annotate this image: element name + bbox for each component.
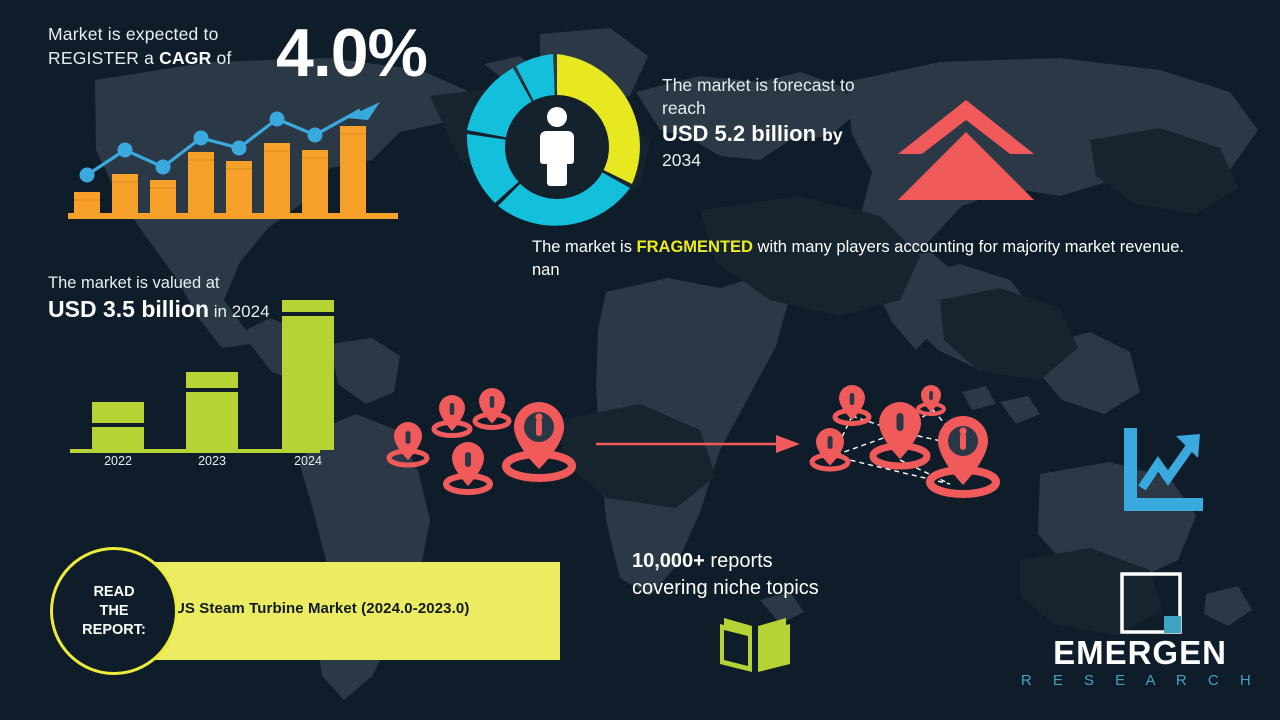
- cagr-lead-text: Market is expected to REGISTER a CAGR of: [48, 22, 263, 70]
- upward-chevrons-icon: [896, 96, 1036, 204]
- open-book-icon: [718, 612, 794, 674]
- location-pin: [812, 428, 848, 469]
- valued-lead-text: The market is valued at: [48, 272, 348, 294]
- cagr-lead-line2-post: of: [211, 48, 231, 68]
- forecast-value-suffix: by: [822, 125, 842, 145]
- read-report-button[interactable]: READ THE REPORT:: [50, 547, 178, 675]
- growth-trend-bar-chart: [68, 88, 408, 223]
- reports-count: 10,000+: [632, 550, 705, 572]
- location-pin: [446, 442, 490, 492]
- read-report-line1: READ: [93, 584, 134, 600]
- forecast-value-row: USD 5.2 billion by: [662, 120, 902, 149]
- green-bars-svg: [70, 292, 340, 472]
- read-report-line2: THE: [100, 603, 129, 619]
- location-pin: [389, 422, 427, 465]
- forecast-line1: The market is forecast to: [662, 74, 902, 97]
- growth-bars: [74, 126, 366, 213]
- market-value-bar-chart: 2022 2023 2024: [70, 292, 340, 472]
- reports-line1: 10,000+ reports: [632, 548, 912, 575]
- market-fragmentation-text: The market is FRAGMENTED with many playe…: [532, 236, 1212, 282]
- flow-arrow-icon: [594, 428, 804, 460]
- reports-line2: covering niche topics: [632, 575, 912, 602]
- read-report-line3: REPORT:: [82, 622, 146, 638]
- green-chart-baseline: [70, 449, 320, 453]
- location-pin: [434, 395, 470, 436]
- connected-location-pins-network: [800, 384, 1015, 502]
- green-bar-label-2024: 2024: [273, 454, 343, 468]
- cagr-lead-line2-pre: REGISTER a: [48, 48, 159, 68]
- forecast-line2: reach: [662, 97, 902, 120]
- logo-square-icon: [1120, 572, 1182, 634]
- forecast-block: The market is forecast to reach USD 5.2 …: [662, 74, 902, 172]
- fragmented-pre: The market is: [532, 238, 637, 256]
- line-chart-icon: [1120, 426, 1206, 512]
- reports-line1-rest: reports: [705, 550, 773, 572]
- logo-subtitle: R E S E A R C H: [1020, 672, 1260, 689]
- cagr-value: 4.0%: [276, 16, 427, 90]
- green-bar-label-2022: 2022: [83, 454, 153, 468]
- location-pin: [506, 402, 572, 478]
- green-bars: [92, 300, 334, 450]
- scattered-location-pins: [382, 386, 592, 496]
- cagr-lead-line1: Market is expected to: [48, 24, 219, 44]
- forecast-value: USD 5.2 billion: [662, 121, 816, 146]
- chart-baseline: [68, 213, 398, 219]
- market-share-donut-chart: [458, 48, 656, 246]
- location-pin: [835, 385, 869, 424]
- location-pin: [475, 388, 509, 428]
- reports-count-block: 10,000+ reports covering niche topics: [632, 548, 912, 602]
- logo-wordmark: EMERGEN: [1020, 634, 1260, 672]
- infographic-canvas: Market is expected to REGISTER a CAGR of…: [0, 0, 1280, 720]
- green-bar-label-2023: 2023: [177, 454, 247, 468]
- trend-arrowhead: [346, 102, 380, 120]
- forecast-year: 2034: [662, 149, 902, 172]
- location-pin: [918, 385, 944, 414]
- report-title: US Steam Turbine Market (2024.0-2023.0): [174, 600, 469, 617]
- brand-logo: EMERGEN R E S E A R C H: [1020, 572, 1260, 702]
- cagr-block: Market is expected to REGISTER a CAGR of…: [48, 22, 468, 70]
- cagr-keyword: CAGR: [159, 48, 211, 68]
- read-report-label: READ THE REPORT:: [82, 583, 146, 640]
- fragmented-highlight: FRAGMENTED: [637, 238, 753, 256]
